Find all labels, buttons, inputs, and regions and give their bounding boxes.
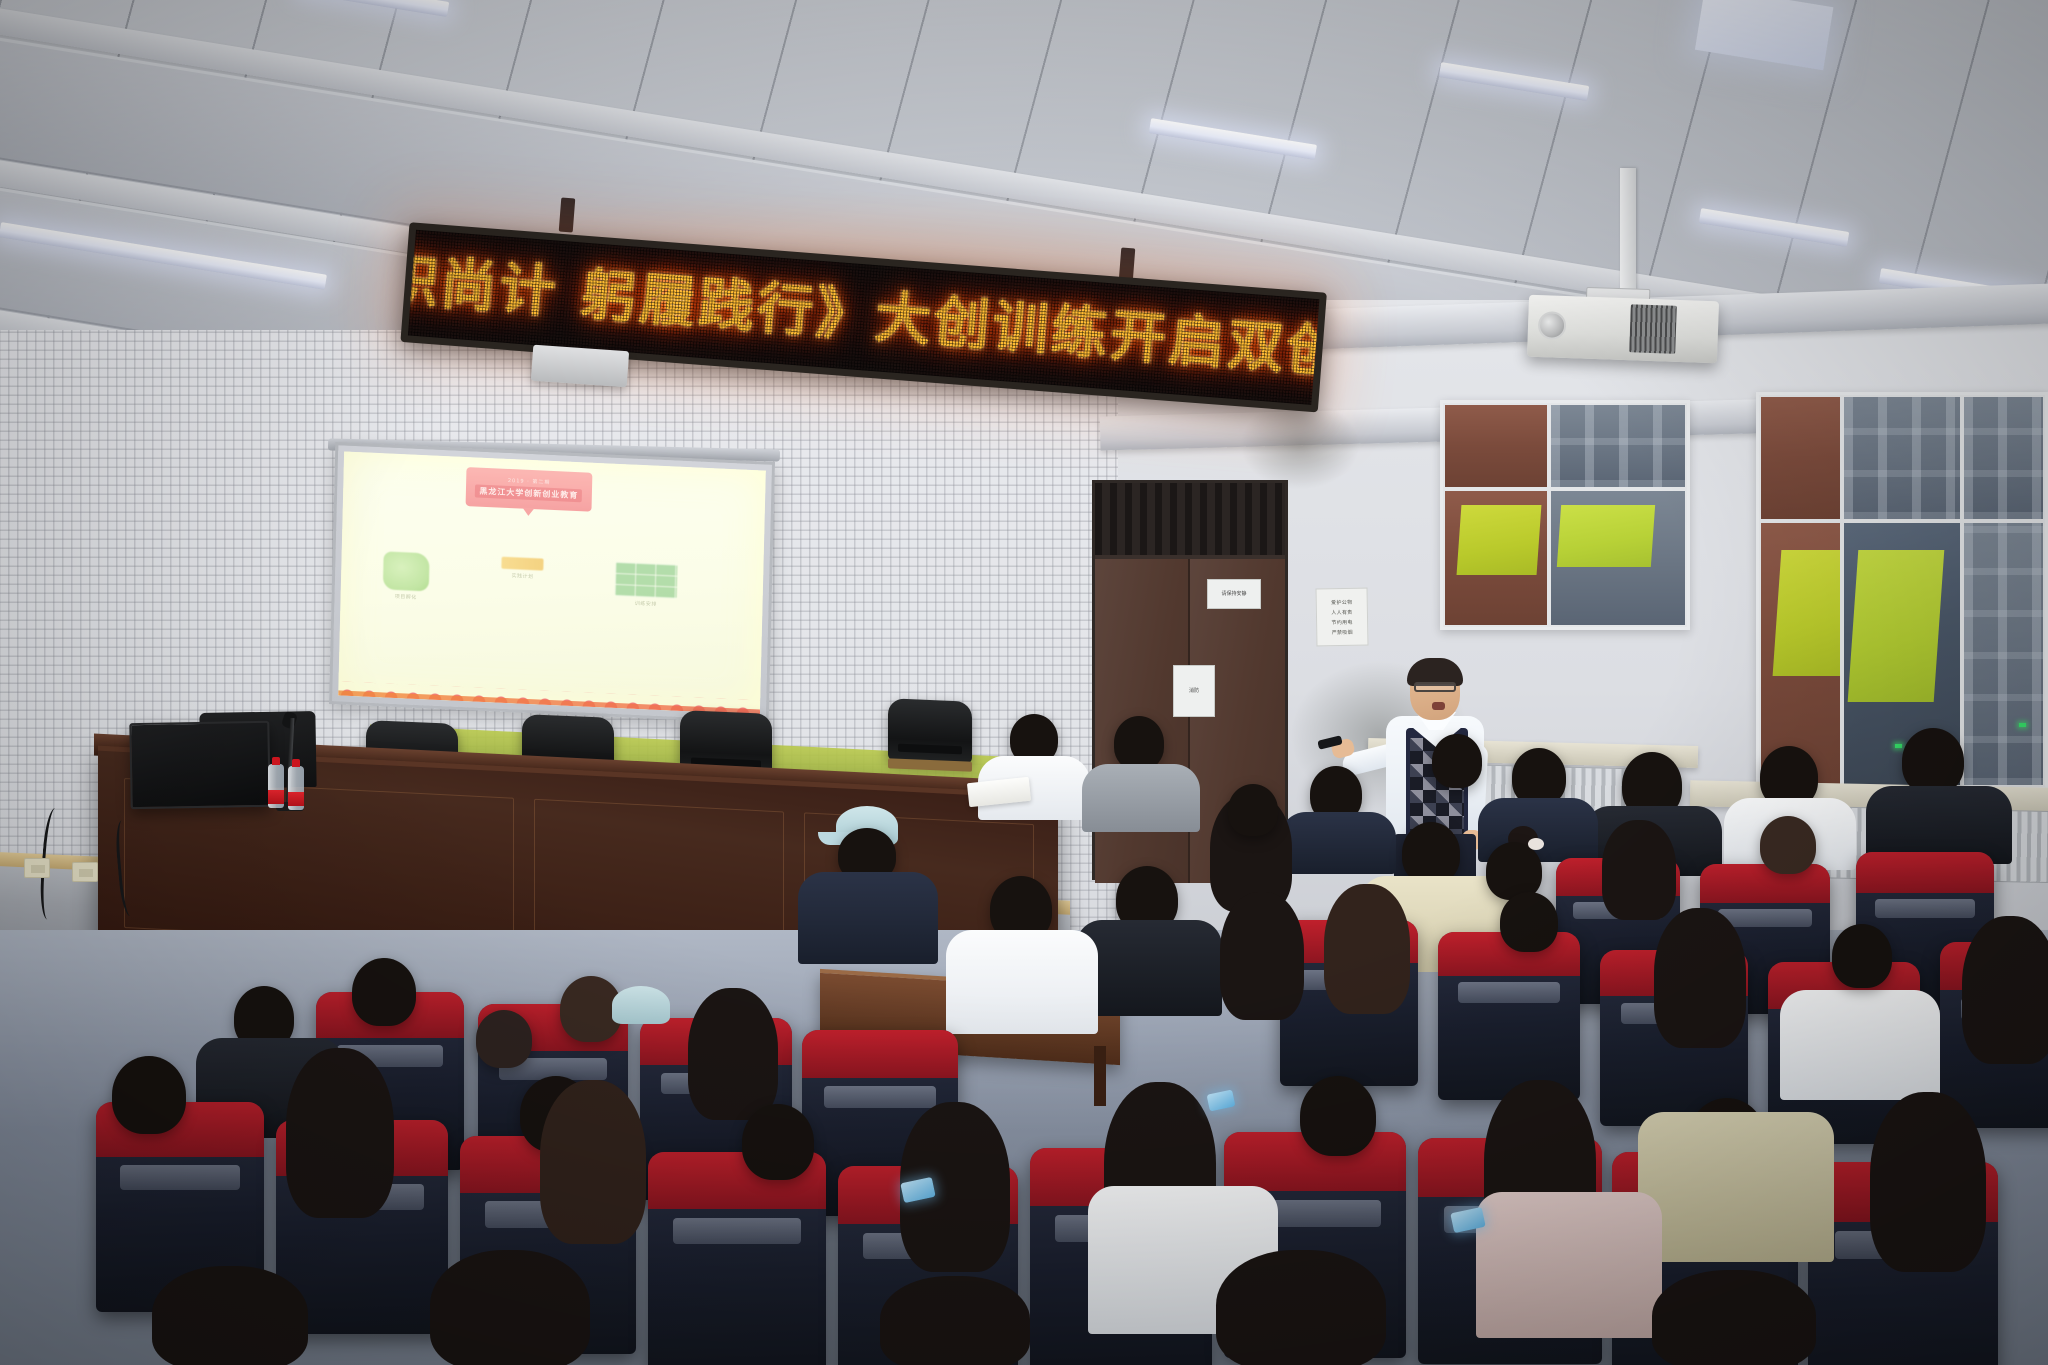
wall-notice-line: 严禁吸烟 <box>1332 628 1353 635</box>
audience-hair <box>1602 820 1676 920</box>
audience-head <box>1832 924 1892 988</box>
slide-header-subtitle: 2019 · 第二期 <box>508 477 551 486</box>
projector-vent <box>1629 304 1677 354</box>
door-sign-upper: 请保持安静 <box>1207 579 1261 609</box>
slide-header-title: 黑龙江大学创新创业教育 <box>475 485 582 503</box>
window-pane <box>1842 395 1962 521</box>
slide-item: 训练安排 <box>615 561 678 608</box>
audience-shoulders <box>1476 1192 1662 1338</box>
equipment-led <box>1895 744 1902 748</box>
window-unit-center <box>1440 400 1690 630</box>
screen-reflection <box>1457 505 1541 575</box>
audience-shoulders <box>1638 1112 1834 1262</box>
audience-head <box>1902 728 1964 794</box>
exterior-building-windows <box>1844 397 1960 519</box>
slide-table-icon <box>615 561 678 598</box>
baseball-cap <box>612 986 670 1024</box>
audience-head <box>742 1104 814 1180</box>
lecture-hall-photo: 《兼积尚计 躬履践行》大创训练开启双创征程 2019 · 第二期 黑龙江大学创新… <box>0 0 2048 1365</box>
window-pane <box>1443 403 1549 489</box>
auditorium-seat[interactable] <box>1438 932 1580 1100</box>
smartphone[interactable] <box>1207 1089 1236 1111</box>
audience-hair <box>430 1250 590 1365</box>
audience-hair <box>286 1048 394 1218</box>
slide-bar-icon <box>502 556 544 570</box>
audience-hair <box>880 1276 1030 1365</box>
equipment-led <box>2019 723 2026 727</box>
wall-notice-line: 节约用电 <box>1331 618 1352 625</box>
audience-hair <box>1652 1270 1816 1365</box>
window-pane <box>1549 403 1687 489</box>
window-pane <box>1962 395 2045 521</box>
stage-chair[interactable] <box>888 698 972 764</box>
screen-reflection <box>1557 505 1655 567</box>
audience-head <box>352 958 416 1026</box>
window-pane-openable[interactable] <box>1962 521 2045 787</box>
projector-pole-mount <box>1620 168 1636 300</box>
audience-shoulders <box>1280 812 1396 874</box>
audience-head <box>112 1056 186 1134</box>
slide-leaf-icon <box>383 551 430 591</box>
banner-mount-bracket <box>559 198 576 233</box>
window-pane <box>1759 395 1842 521</box>
projection-screen: 2019 · 第二期 黑龙江大学创新创业教育 项目孵化 实践计划 训练安排 <box>329 442 775 724</box>
audience-shoulders <box>946 930 1098 1034</box>
audience-seating-area <box>0 780 2048 1365</box>
exterior-building-windows <box>1964 397 2043 519</box>
screen-reflection <box>1772 550 1842 676</box>
wall-notice-line: 爱护公物 <box>1331 598 1352 605</box>
audience-head <box>1432 734 1482 788</box>
audience-head <box>476 1010 532 1068</box>
window-pane-openable[interactable] <box>1759 521 1842 787</box>
audience-hair <box>152 1266 308 1365</box>
audience-hair <box>1962 916 2048 1064</box>
exterior-building-windows <box>1964 523 2043 785</box>
screen-reflection <box>1848 550 1945 702</box>
slide-item-caption: 项目孵化 <box>395 592 417 600</box>
ceiling-projector <box>1527 295 1719 364</box>
slide-item-caption: 训练安排 <box>635 599 657 607</box>
projector-lens <box>1538 311 1567 340</box>
glasses-icon <box>1414 682 1456 692</box>
window-pane <box>1443 489 1549 627</box>
slide-item-caption: 实践计划 <box>511 572 533 580</box>
audience-hair <box>688 988 778 1120</box>
audience-shoulders <box>798 872 938 964</box>
audience-head <box>1486 842 1542 900</box>
door-sign-lower: 消防 <box>1173 665 1215 717</box>
exterior-building-windows <box>1551 405 1685 487</box>
slide-header-banner: 2019 · 第二期 黑龙江大学创新创业教育 <box>465 467 592 512</box>
window-unit-right <box>1756 392 2048 790</box>
audience-hair <box>1216 1250 1386 1365</box>
audience-head <box>1500 892 1558 952</box>
audience-hair <box>1654 908 1746 1048</box>
audience-head <box>1402 822 1460 884</box>
audience-head <box>1228 784 1278 836</box>
audience-head <box>1760 816 1816 874</box>
slide-surface: 2019 · 第二期 黑龙江大学创新创业教育 项目孵化 实践计划 训练安排 <box>338 451 766 714</box>
audience-shoulders <box>1082 764 1200 832</box>
wall-notice-line: 人人有责 <box>1331 608 1352 615</box>
audience-shoulders <box>1780 990 1940 1100</box>
slide-item: 项目孵化 <box>383 551 430 601</box>
door-transom-louver <box>1095 483 1285 559</box>
audience-hair <box>1324 884 1410 1014</box>
audience-hair <box>1870 1092 1986 1272</box>
slide-item: 实践计划 <box>501 556 544 580</box>
wall-notice-sign: 爱护公物 人人有责 节约用电 严禁吸烟 <box>1315 588 1368 647</box>
presenter-mouth <box>1432 702 1445 710</box>
auditorium-seat[interactable] <box>648 1152 826 1365</box>
audience-hair <box>1220 892 1304 1020</box>
secondary-projector <box>531 345 629 388</box>
hair-scrunchie <box>1528 838 1544 850</box>
window-pane <box>1549 489 1687 627</box>
audience-head <box>1300 1076 1376 1156</box>
audience-head <box>1114 716 1164 770</box>
wall-stain <box>1240 400 1360 490</box>
audience-hair <box>540 1080 646 1244</box>
